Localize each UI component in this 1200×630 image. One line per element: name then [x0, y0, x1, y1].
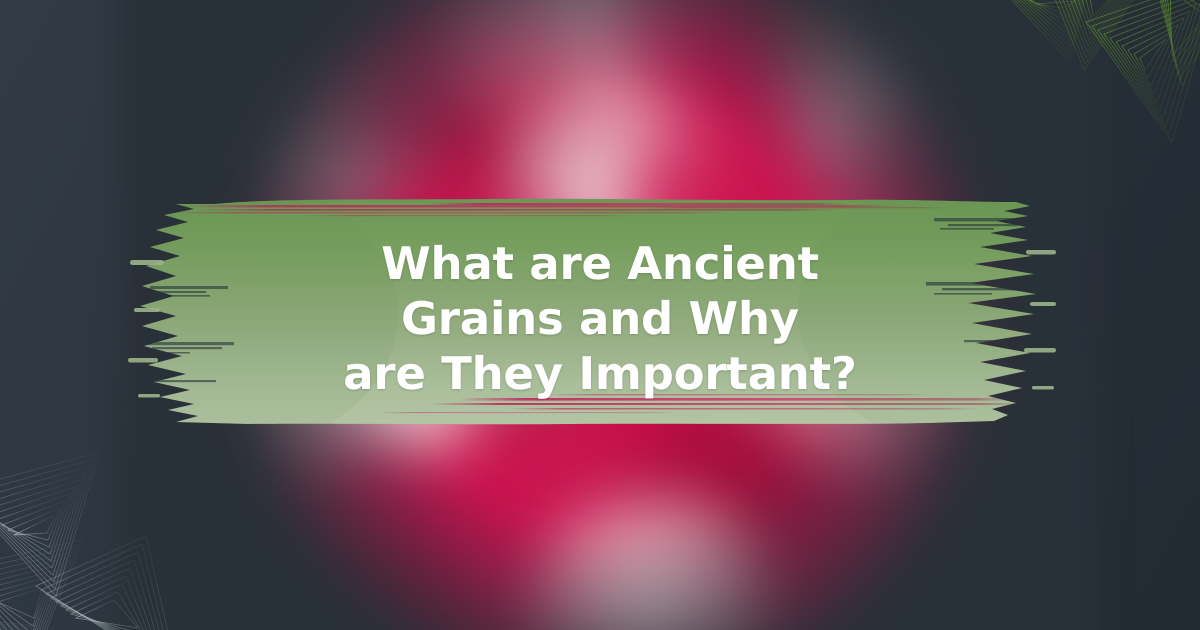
- geometric-line-art-silver-icon: [0, 420, 270, 630]
- geometric-line-art-green-icon: [974, 0, 1200, 176]
- page-title: What are Ancient Grains and Why are They…: [170, 236, 1030, 401]
- social-share-card: What are Ancient Grains and Why are They…: [0, 0, 1200, 630]
